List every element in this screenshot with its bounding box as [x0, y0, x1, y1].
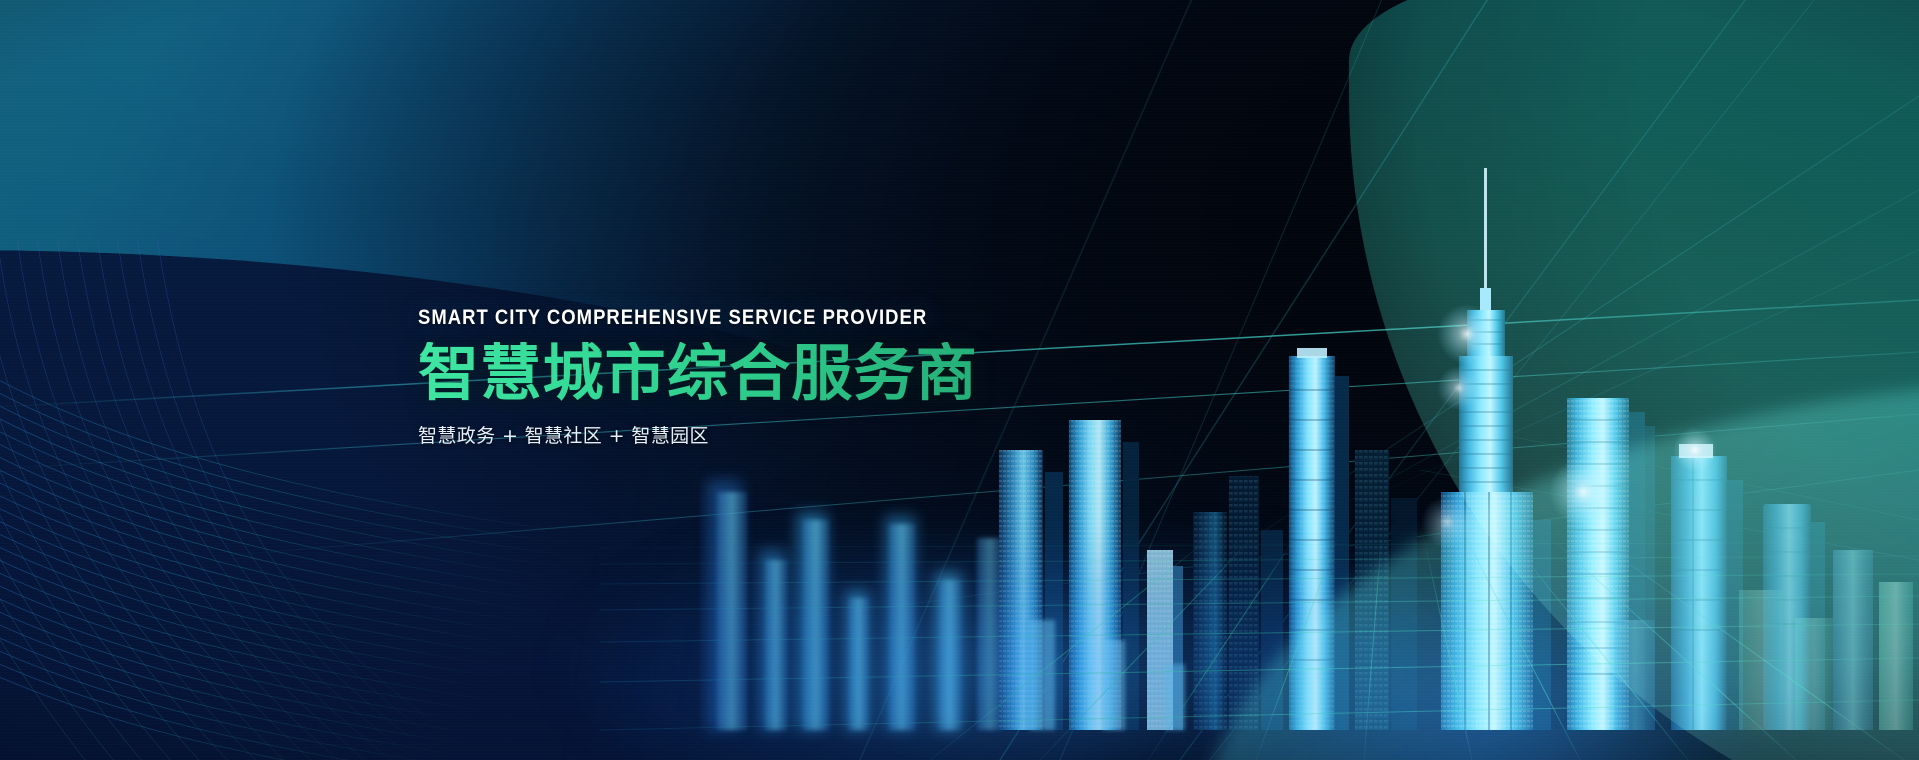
hero-banner: SMART CITY COMPREHENSIVE SERVICE PROVIDE…: [0, 0, 1919, 760]
page-title: 智慧城市综合服务商: [418, 342, 1178, 405]
hero-eyebrow: SMART CITY COMPREHENSIVE SERVICE PROVIDE…: [418, 306, 1087, 330]
hero-subtitle: 智慧政务 + 智慧社区 + 智慧园区: [418, 421, 1178, 448]
bottom-blue-glow: [1159, 540, 1799, 760]
hero-copy: SMART CITY COMPREHENSIVE SERVICE PROVIDE…: [418, 306, 1178, 448]
